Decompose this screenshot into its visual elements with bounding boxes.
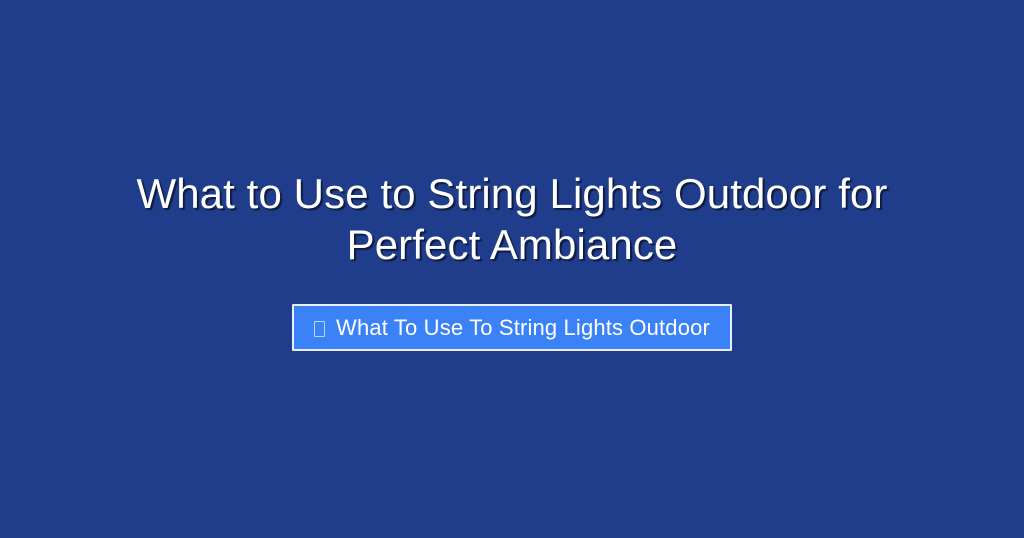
cta-container: What To Use To String Lights Outdoor [0, 304, 1024, 351]
missing-glyph-box-icon [314, 321, 325, 337]
cta-button-label: What To Use To String Lights Outdoor [336, 316, 710, 340]
string-lights-outdoor-cta-button[interactable]: What To Use To String Lights Outdoor [292, 304, 732, 351]
page-title: What to Use to String Lights Outdoor for… [72, 168, 952, 270]
page-root: What to Use to String Lights Outdoor for… [0, 0, 1024, 538]
hero-section: What to Use to String Lights Outdoor for… [0, 0, 1024, 538]
